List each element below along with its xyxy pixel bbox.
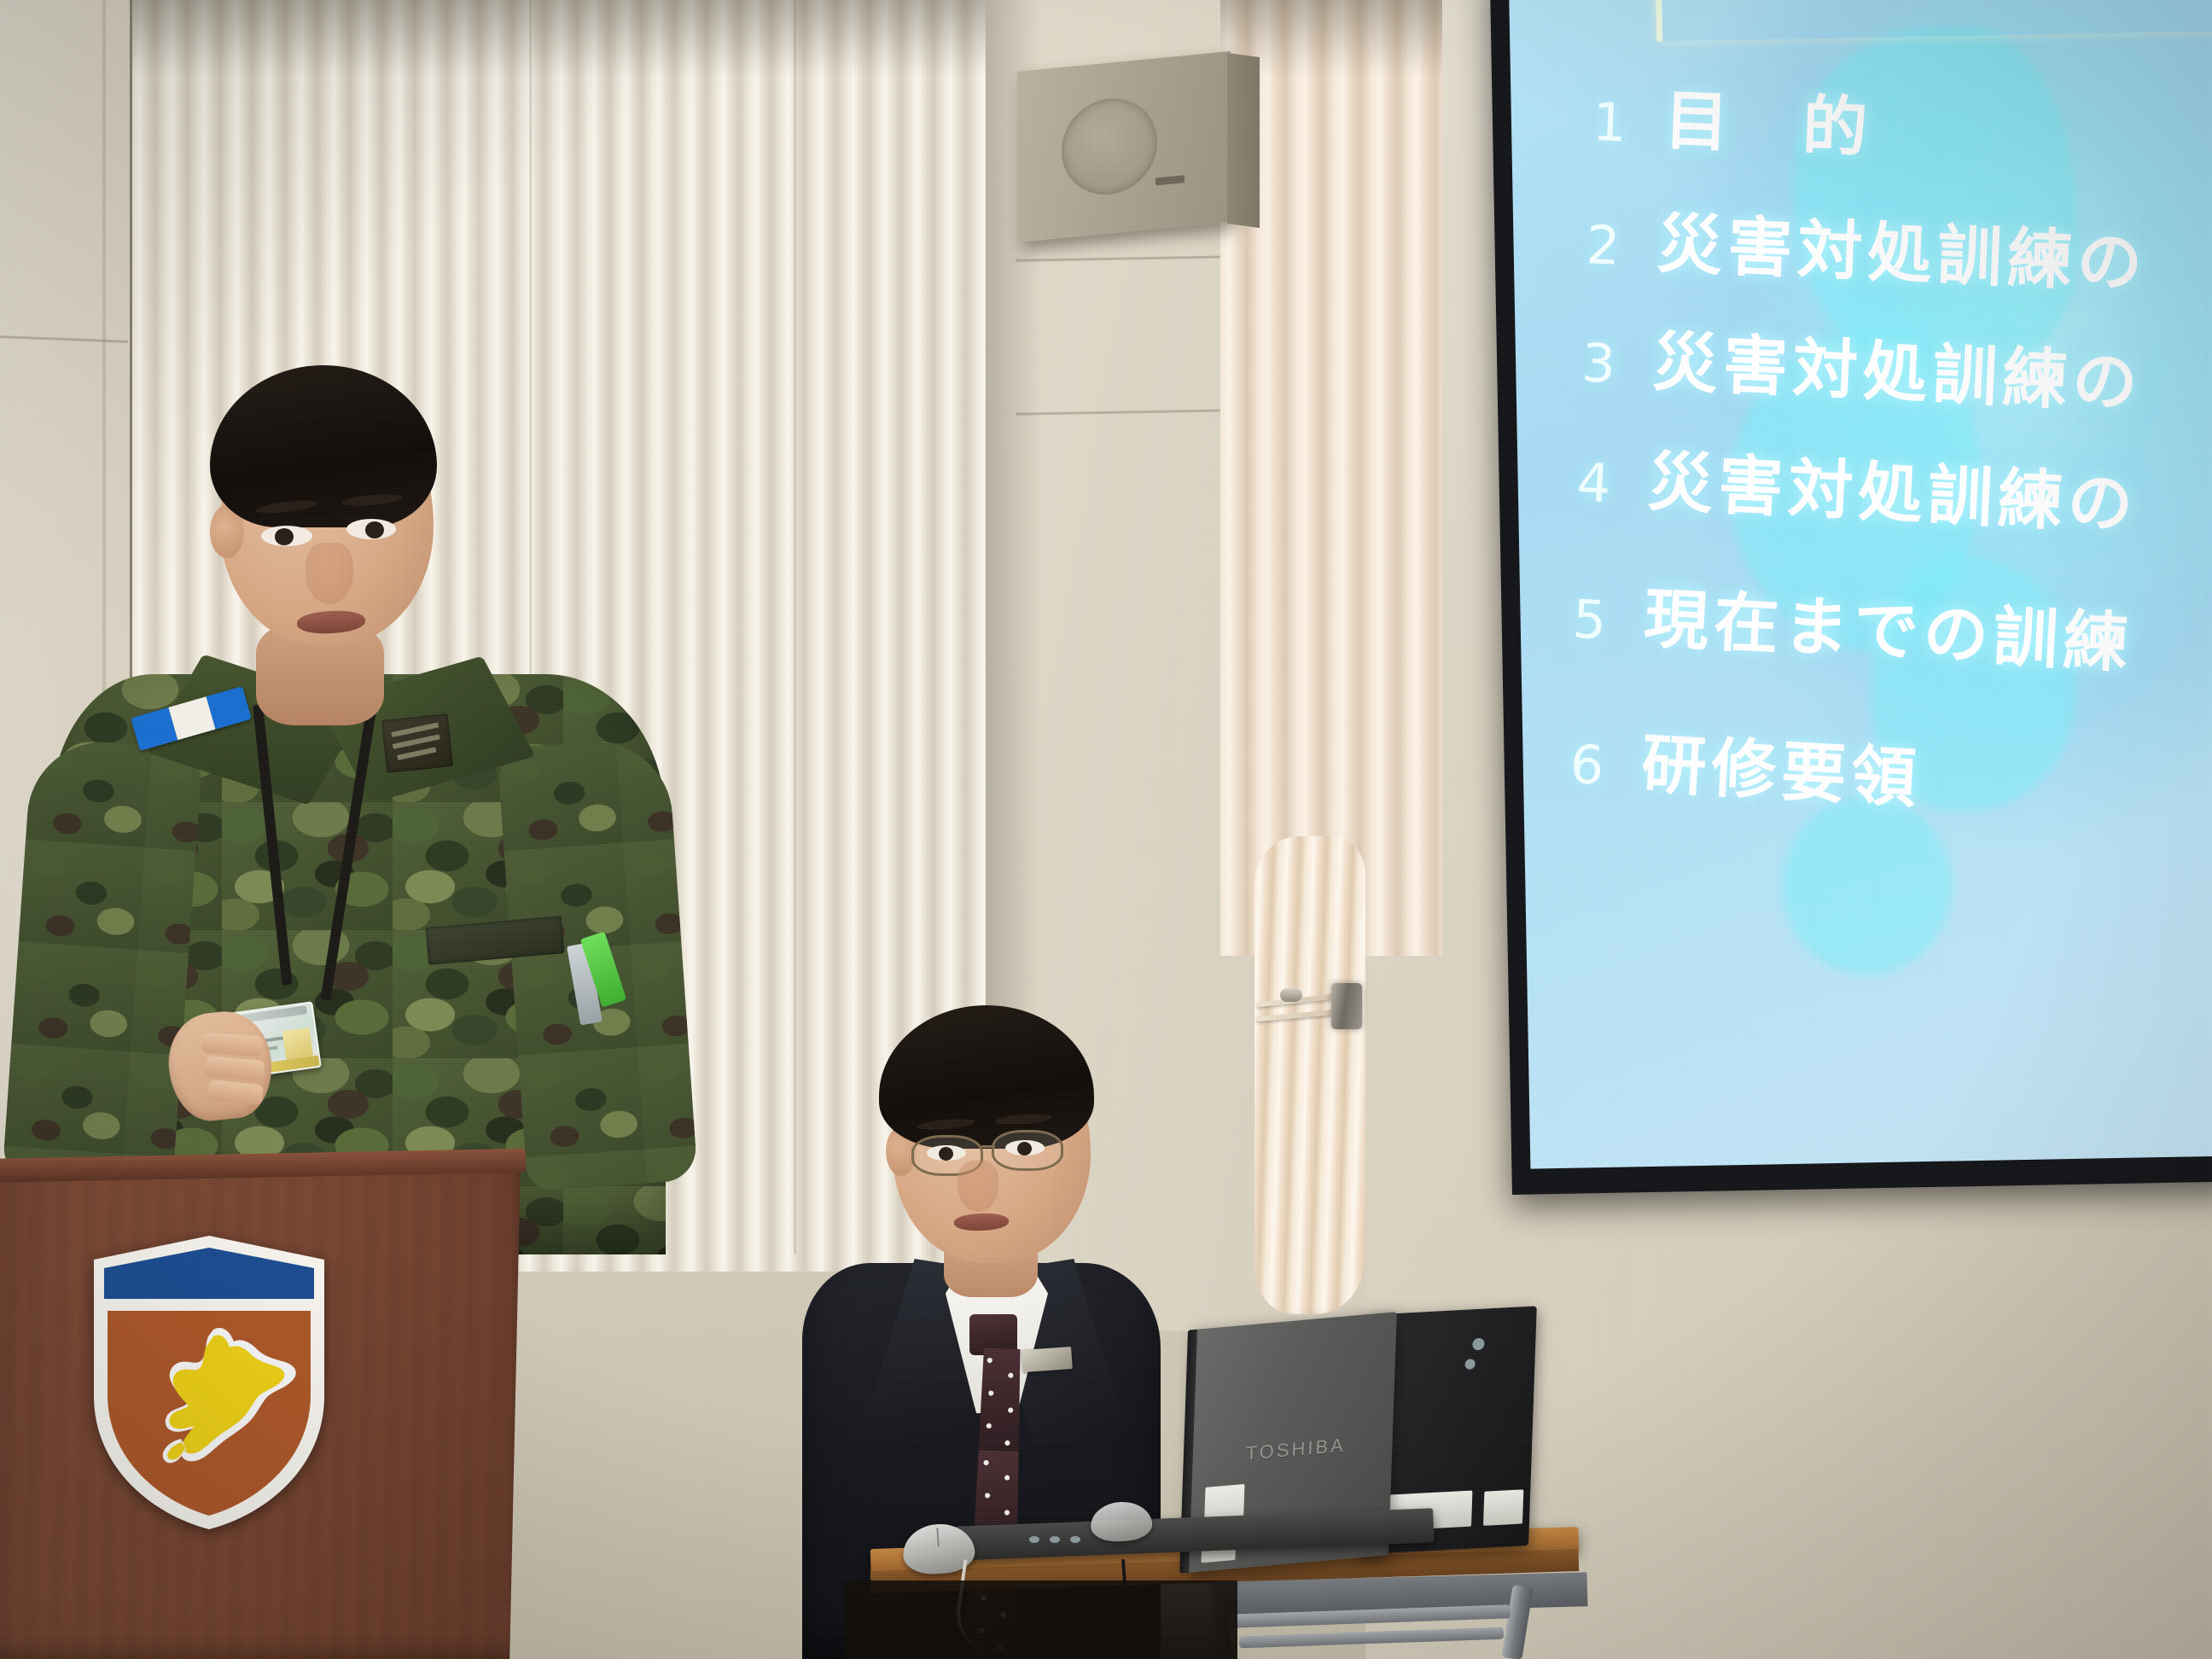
speaker-cone	[1062, 94, 1157, 199]
slide-agenda-item-2: 2 災害対処訓練の	[1585, 188, 2149, 305]
laptop-base-led-c	[1070, 1536, 1080, 1543]
slide-item-text: 災害対処訓練の	[1656, 191, 2150, 305]
slide-agenda-item-1: 1 目 的	[1592, 65, 1895, 170]
slide-item-number: 4	[1575, 451, 1612, 515]
slide-agenda-list: 1 目 的 2 災害対処訓練の 3 災害対処訓練の 4 災害対処訓練の 5	[1509, 0, 2212, 1169]
speaker-side-panel	[1227, 53, 1260, 228]
wall-mounted-speaker	[1017, 51, 1231, 242]
operator-pupil-right	[939, 1147, 953, 1161]
slide-item-number: 1	[1592, 90, 1627, 154]
hokkaido-shield-emblem	[85, 1229, 333, 1536]
operator-hair	[879, 1005, 1094, 1149]
slide-item-number: 2	[1585, 213, 1621, 277]
slide-item-number: 5	[1571, 588, 1608, 652]
presenter-pupil-right	[275, 528, 294, 545]
laptop-brand-label: TOSHIBA	[1245, 1434, 1346, 1464]
laptop-base-led-a	[1029, 1536, 1039, 1543]
laptop-rear-led-1	[1472, 1338, 1484, 1351]
slide-item-text: 現在までの訓練	[1642, 566, 2136, 684]
slide-item-text: 災害対処訓練の	[1651, 309, 2145, 424]
operator-nose	[958, 1161, 998, 1212]
operator-glasses-bridge	[981, 1145, 995, 1148]
slide-item-text: 災害対処訓練の	[1646, 429, 2140, 546]
laptop-rear-sticker-2	[1483, 1489, 1523, 1526]
curtain-drape-tied	[1254, 836, 1365, 1314]
slide-item-number: 6	[1569, 733, 1605, 797]
presenter-pupil-left	[365, 521, 384, 538]
projection-screen[interactable]: 1 目 的 2 災害対処訓練の 3 災害対処訓練の 4 災害対処訓練の 5	[1490, 0, 2212, 1195]
laptop-rear-led-2	[1464, 1359, 1475, 1370]
projection-screen-surface: 1 目 的 2 災害対処訓練の 3 災害対処訓練の 4 災害対処訓練の 5	[1509, 0, 2212, 1169]
laptop-base-led-b	[1050, 1536, 1060, 1543]
slide-item-text: 目 的	[1662, 67, 1895, 170]
mouse-button-seam	[936, 1528, 940, 1546]
speaker-port-slot	[1155, 175, 1185, 185]
presenter-nose	[306, 543, 353, 604]
id-card-photo	[282, 1027, 313, 1060]
curtain-hook	[1280, 988, 1302, 1002]
curtain-top-shadow	[132, 0, 986, 77]
slide-agenda-item-4: 4 災害対処訓練の	[1575, 426, 2140, 546]
slide-agenda-item-5: 5 現在までの訓練	[1571, 562, 2136, 685]
slide-agenda-item-3: 3 災害対処訓練の	[1580, 306, 2145, 424]
operator-lapel-badge	[1022, 1347, 1073, 1372]
uniformed-presenter	[0, 461, 700, 1229]
presenter-rank-patch	[381, 713, 453, 773]
rank-chevron-3	[397, 747, 436, 760]
slide-item-text: 研修要領	[1639, 711, 1924, 820]
slide-item-number: 3	[1580, 331, 1617, 395]
photograph-scene: 1 目 的 2 災害対処訓練の 3 災害対処訓練の 4 災害対処訓練の 5	[0, 0, 2212, 1659]
presenter-right-arm	[2, 737, 203, 1192]
under-table-shadow	[845, 1580, 1237, 1659]
presenter-finger-1	[201, 1033, 263, 1057]
slide-agenda-item-6: 6 研修要領	[1569, 707, 1924, 820]
operator-pupil-left	[1017, 1142, 1032, 1155]
curtain-tieback-clip	[1331, 983, 1362, 1029]
